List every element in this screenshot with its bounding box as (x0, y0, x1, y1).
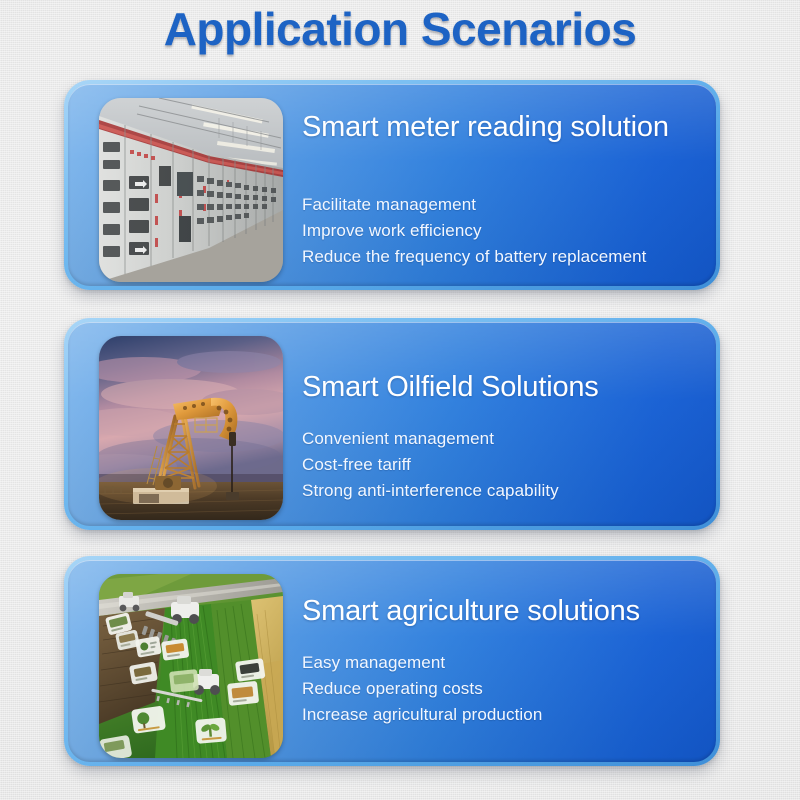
list-item: Strong anti-interference capability (302, 478, 698, 504)
smart-farm-aerial-image (99, 574, 283, 758)
card-panel: Smart Oilfield Solutions Convenient mana… (68, 322, 716, 526)
scenario-card-smart-meter-reading[interactable]: Smart meter reading solution Facilitate … (64, 80, 720, 290)
list-item: Reduce the frequency of battery replacem… (302, 244, 698, 270)
card-heading: Smart meter reading solution (302, 110, 698, 144)
card-text-block: Smart meter reading solution Facilitate … (302, 84, 698, 286)
card-panel: Smart agriculture solutions Easy managem… (68, 560, 716, 762)
card-heading: Smart Oilfield Solutions (302, 370, 698, 404)
card-feature-list: Easy management Reduce operating costs I… (302, 650, 698, 728)
card-feature-list: Convenient management Cost-free tariff S… (302, 426, 698, 504)
switchgear-room-image (99, 98, 283, 282)
list-item: Improve work efficiency (302, 218, 698, 244)
oil-pumpjack-image (99, 336, 283, 520)
scenario-card-smart-oilfield[interactable]: Smart Oilfield Solutions Convenient mana… (64, 318, 720, 530)
card-text-block: Smart agriculture solutions Easy managem… (302, 560, 698, 762)
card-heading: Smart agriculture solutions (302, 594, 698, 628)
list-item: Reduce operating costs (302, 676, 698, 702)
application-scenarios-page: Application Scenarios (0, 0, 800, 800)
list-item: Cost-free tariff (302, 452, 698, 478)
page-title: Application Scenarios (0, 0, 800, 62)
list-item: Easy management (302, 650, 698, 676)
list-item: Increase agricultural production (302, 702, 698, 728)
list-item: Facilitate management (302, 192, 698, 218)
card-panel: Smart meter reading solution Facilitate … (68, 84, 716, 286)
card-feature-list: Facilitate management Improve work effic… (302, 192, 698, 270)
card-text-block: Smart Oilfield Solutions Convenient mana… (302, 322, 698, 526)
list-item: Convenient management (302, 426, 698, 452)
scenario-card-smart-agriculture[interactable]: Smart agriculture solutions Easy managem… (64, 556, 720, 766)
